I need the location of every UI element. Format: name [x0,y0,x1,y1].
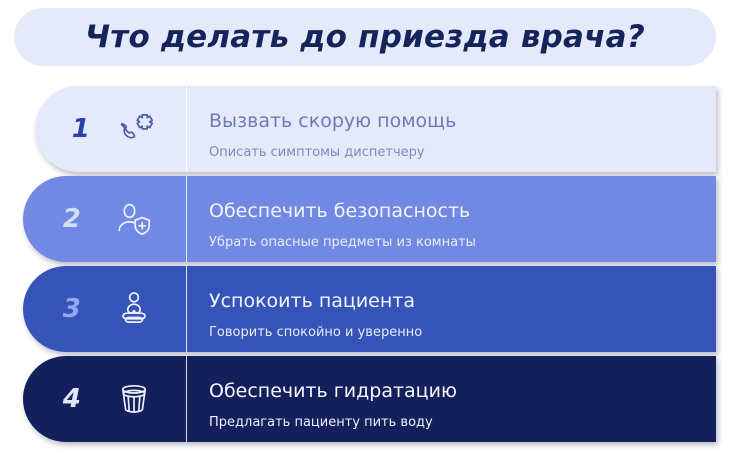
step-row[interactable]: 2 Обеспечить безопасность Убрать опасные… [23,176,716,262]
step-title: Обеспечить гидратацию [209,381,716,403]
step-left-panel: 2 [23,176,186,262]
step-number: 4 [63,386,81,412]
step-number: 1 [72,116,90,142]
step-row[interactable]: 3 Успокоить пациента Говорить спокойно и… [23,266,716,352]
step-body: Обеспечить безопасность Убрать опасные п… [187,176,716,262]
meditation-lotus-icon [112,287,156,331]
step-left-panel: 4 [23,356,186,442]
step-number: 2 [63,206,81,232]
step-row[interactable]: 1 Вызвать скорую помощь Описать симптомы… [35,86,716,172]
step-subtitle: Предлагать пациенту пить воду [209,416,716,431]
step-subtitle: Убрать опасные предметы из комнаты [209,236,716,251]
header-bar: Что делать до приезда врача? [14,8,716,66]
person-shield-plus-icon [112,197,156,241]
step-subtitle: Говорить спокойно и уверенно [209,326,716,341]
drinking-glass-icon [112,377,156,421]
step-row[interactable]: 4 Обеспечить гидратацию Предлагать пацие… [23,356,716,442]
steps-list: 1 Вызвать скорую помощь Описать симптомы… [0,86,730,455]
step-body: Вызвать скорую помощь Описать симптомы д… [187,86,716,172]
page-title: Что делать до приезда врача? [85,22,645,53]
step-title: Обеспечить безопасность [209,201,716,223]
step-title: Вызвать скорую помощь [209,111,716,133]
step-number: 3 [63,296,81,322]
step-left-panel: 3 [23,266,186,352]
step-subtitle: Описать симптомы диспетчеру [209,146,716,161]
step-title: Успокоить пациента [209,291,716,313]
step-body: Успокоить пациента Говорить спокойно и у… [187,266,716,352]
phone-medical-cross-icon [115,107,159,151]
step-left-panel: 1 [35,86,186,172]
step-body: Обеспечить гидратацию Предлагать пациент… [187,356,716,442]
